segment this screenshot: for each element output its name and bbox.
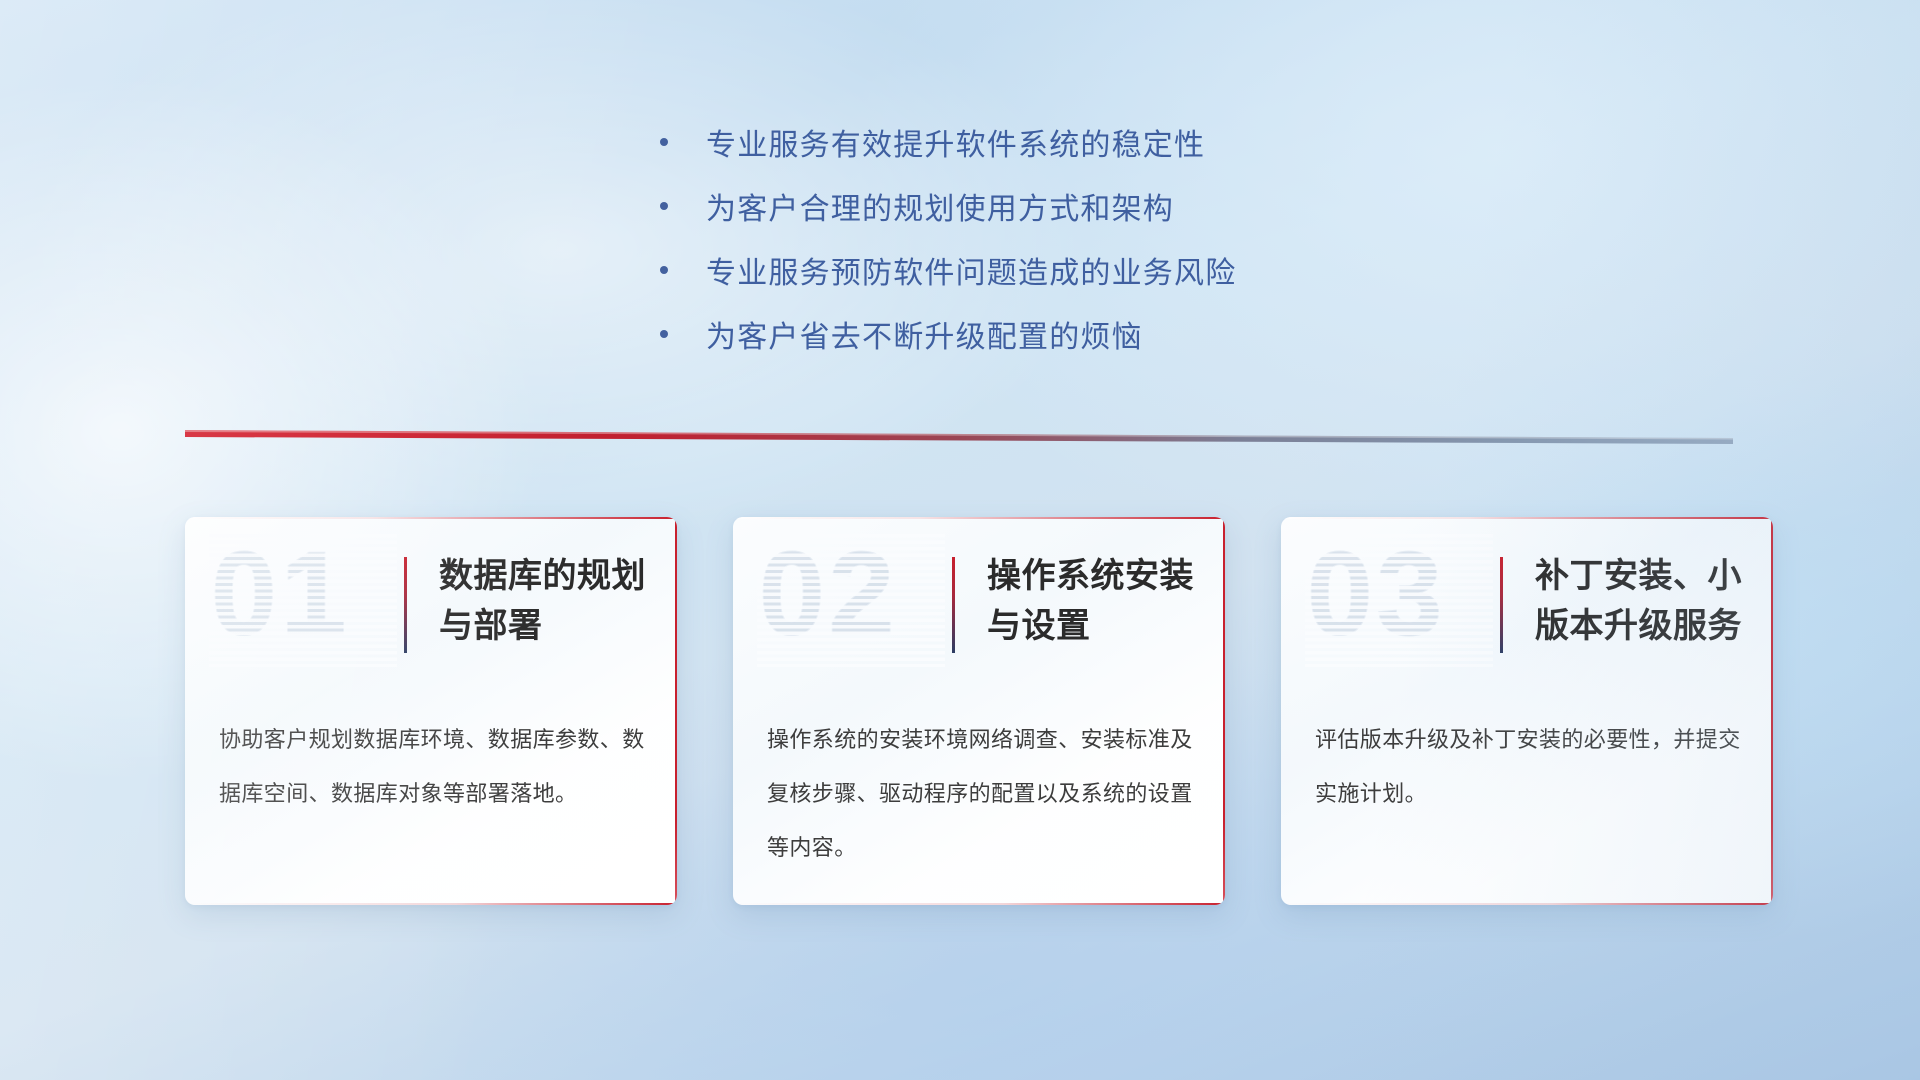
card-title: 操作系统安装与设置 [987, 551, 1205, 651]
card-title: 数据库的规划与部署 [439, 551, 657, 651]
card-number-watermark: 03 [1307, 535, 1446, 653]
bullet-dot-icon [660, 330, 668, 338]
list-item: 为客户合理的规划使用方式和架构 [660, 174, 1520, 238]
list-item: 专业服务有效提升软件系统的稳定性 [660, 110, 1520, 174]
card-bottom-accent [1281, 903, 1773, 905]
number-stripe-overlay [1305, 531, 1493, 667]
bullet-text: 为客户合理的规划使用方式和架构 [706, 184, 1174, 228]
card-bottom-accent [185, 903, 677, 905]
card-header: 03 补丁安装、小版本升级服务 [1281, 517, 1773, 695]
card-title-rule [404, 557, 407, 653]
slide-canvas: 专业服务有效提升软件系统的稳定性 为客户合理的规划使用方式和架构 专业服务预防软… [0, 0, 1920, 1080]
bullet-dot-icon [660, 202, 668, 210]
card-title-rule [1500, 557, 1503, 653]
service-cards-row: 01 数据库的规划与部署 协助客户规划数据库环境、数据库参数、数据库空间、数据库… [185, 517, 1775, 917]
card-title-rule [952, 557, 955, 653]
list-item: 专业服务预防软件问题造成的业务风险 [660, 238, 1520, 302]
number-stripe-overlay [209, 531, 397, 667]
bullet-dot-icon [660, 138, 668, 146]
card-body-text: 评估版本升级及补丁安装的必要性，并提交实施计划。 [1315, 713, 1743, 821]
card-number-watermark: 01 [211, 535, 350, 653]
card-title: 补丁安装、小版本升级服务 [1535, 551, 1753, 651]
bullet-text: 专业服务预防软件问题造成的业务风险 [706, 248, 1236, 292]
card-body-text: 操作系统的安装环境网络调查、安装标准及复核步骤、驱动程序的配置以及系统的设置等内… [767, 713, 1195, 875]
list-item: 为客户省去不断升级配置的烦恼 [660, 302, 1520, 366]
bullet-text: 专业服务有效提升软件系统的稳定性 [706, 120, 1205, 164]
card-header: 02 操作系统安装与设置 [733, 517, 1225, 695]
service-card[interactable]: 02 操作系统安装与设置 操作系统的安装环境网络调查、安装标准及复核步骤、驱动程… [733, 517, 1225, 905]
benefits-bullet-list: 专业服务有效提升软件系统的稳定性 为客户合理的规划使用方式和架构 专业服务预防软… [660, 110, 1520, 366]
card-number-watermark: 02 [759, 535, 898, 653]
card-header: 01 数据库的规划与部署 [185, 517, 677, 695]
card-bottom-accent [733, 903, 1225, 905]
bullet-text: 为客户省去不断升级配置的烦恼 [706, 312, 1143, 356]
number-stripe-overlay [757, 531, 945, 667]
divider-shape-icon [185, 422, 1733, 448]
tapered-divider [185, 422, 1733, 448]
service-card[interactable]: 03 补丁安装、小版本升级服务 评估版本升级及补丁安装的必要性，并提交实施计划。 [1281, 517, 1773, 905]
card-body-text: 协助客户规划数据库环境、数据库参数、数据库空间、数据库对象等部署落地。 [219, 713, 647, 821]
service-card[interactable]: 01 数据库的规划与部署 协助客户规划数据库环境、数据库参数、数据库空间、数据库… [185, 517, 677, 905]
bullet-dot-icon [660, 266, 668, 274]
